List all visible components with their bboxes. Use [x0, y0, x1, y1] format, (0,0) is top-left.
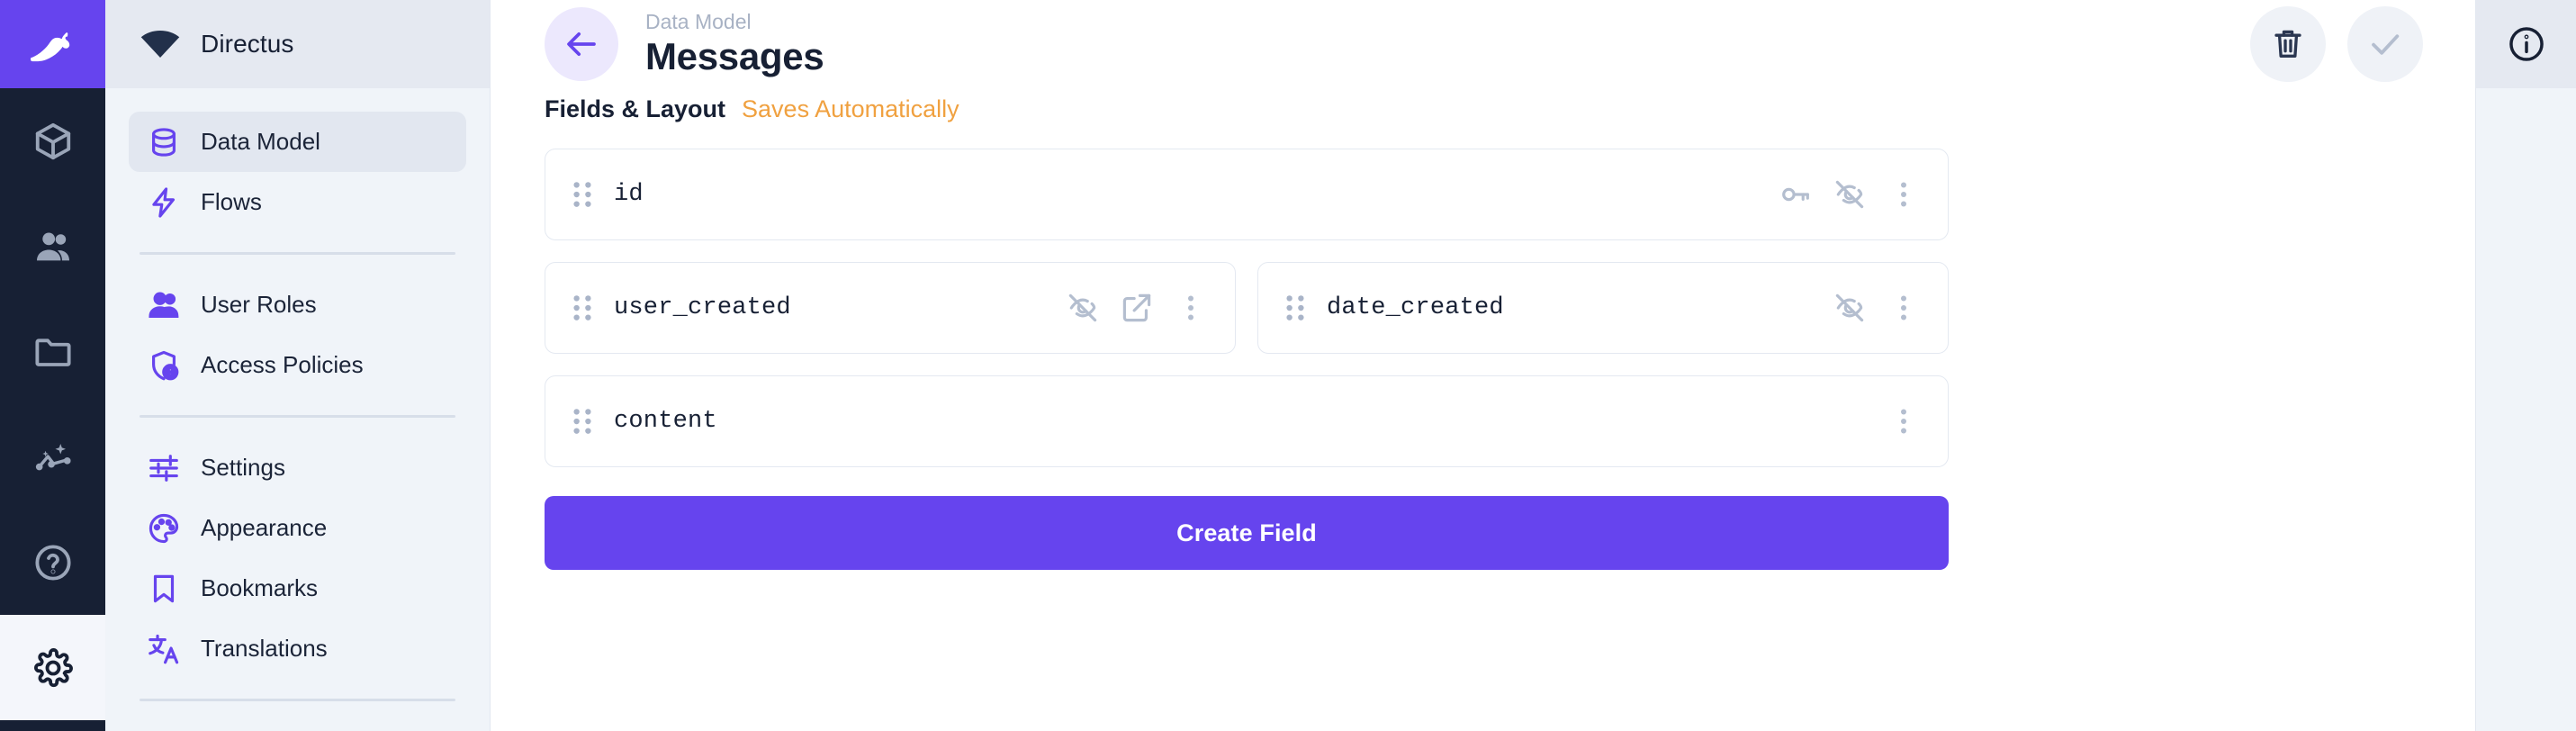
box-icon [32, 121, 74, 162]
field-actions [1887, 404, 1921, 438]
module-button-settings[interactable] [0, 615, 105, 720]
kebab-menu-icon[interactable] [1887, 291, 1921, 325]
sidebar-item-translations[interactable]: Translations [129, 618, 466, 679]
field-card-id[interactable]: id [545, 149, 1949, 240]
sidebar-item-settings[interactable]: Settings [129, 438, 466, 498]
sidebar-divider [140, 699, 455, 701]
module-list [0, 88, 105, 731]
info-sidebar [2475, 0, 2576, 731]
drag-handle-icon[interactable] [571, 293, 594, 323]
page-title: Messages [645, 35, 824, 78]
section-header: Fields & Layout Saves Automatically [545, 95, 2421, 123]
sidebar-item-label: Appearance [201, 514, 327, 542]
module-button-content[interactable] [0, 88, 105, 194]
directus-wedge-icon [140, 29, 181, 59]
sidebar-item-label: Translations [201, 635, 328, 663]
people-icon [147, 288, 181, 322]
help-circle-icon [32, 542, 74, 583]
sidebar-divider [140, 252, 455, 255]
field-name: user_created [614, 294, 791, 321]
palette-icon [147, 511, 181, 546]
field-card-user-created[interactable]: user_created [545, 262, 1236, 354]
breadcrumb[interactable]: Data Model [645, 9, 824, 35]
module-rail [0, 0, 105, 731]
kebab-menu-icon[interactable] [1174, 291, 1208, 325]
key-icon[interactable] [1779, 177, 1813, 212]
section-title: Fields & Layout [545, 95, 725, 123]
kebab-menu-icon[interactable] [1887, 177, 1921, 212]
trash-icon [2269, 25, 2307, 63]
sidebar-item-label: Settings [201, 454, 285, 482]
module-button-users[interactable] [0, 194, 105, 299]
bolt-icon [147, 185, 181, 220]
eye-off-icon[interactable] [1833, 177, 1867, 212]
info-circle-icon[interactable] [2507, 24, 2546, 64]
shield-user-icon [147, 348, 181, 383]
sidebar-item-user-roles[interactable]: User Roles [129, 275, 466, 335]
sidebar-divider [140, 415, 455, 418]
directus-rabbit-logo-icon [25, 23, 81, 65]
back-button[interactable] [545, 7, 618, 81]
info-sidebar-body [2476, 88, 2576, 731]
kebab-menu-icon[interactable] [1887, 404, 1921, 438]
fields-layout-section: Fields & Layout Saves Automatically [491, 88, 2475, 570]
module-button-files[interactable] [0, 299, 105, 404]
arrow-left-icon [563, 25, 600, 63]
info-sidebar-header [2476, 0, 2576, 88]
app-root: Directus Data Model Flows [0, 0, 2576, 731]
sidebar-nav: Data Model Flows U [105, 88, 490, 731]
field-row: content [545, 375, 1949, 467]
save-collection-button[interactable] [2347, 6, 2423, 82]
folder-icon [32, 331, 74, 373]
eye-off-icon[interactable] [1833, 291, 1867, 325]
directus-logo-button[interactable] [0, 0, 105, 88]
sidebar-item-appearance[interactable]: Appearance [129, 498, 466, 558]
page-title-block: Data Model Messages [645, 9, 824, 78]
project-name: Directus [201, 30, 294, 59]
insights-icon [32, 437, 74, 478]
sidebar-item-data-model[interactable]: Data Model [129, 112, 466, 172]
fields-list: id [545, 149, 1949, 467]
field-actions [1066, 291, 1208, 325]
module-button-help[interactable] [0, 510, 105, 615]
translate-icon [147, 632, 181, 666]
sidebar-item-flows[interactable]: Flows [129, 172, 466, 232]
bookmark-icon [147, 572, 181, 606]
eye-off-icon[interactable] [1066, 291, 1100, 325]
field-row: user_created [545, 262, 1949, 354]
sidebar-item-access-policies[interactable]: Access Policies [129, 335, 466, 395]
field-name: id [614, 181, 644, 208]
field-card-content[interactable]: content [545, 375, 1949, 467]
delete-collection-button[interactable] [2250, 6, 2326, 82]
autosave-note: Saves Automatically [742, 95, 959, 123]
project-header[interactable]: Directus [105, 0, 490, 88]
field-card-date-created[interactable]: date_created [1257, 262, 1949, 354]
field-row: id [545, 149, 1949, 240]
sidebar-item-label: Data Model [201, 128, 320, 156]
sidebar-item-bookmarks[interactable]: Bookmarks [129, 558, 466, 618]
check-icon [2366, 25, 2404, 63]
header-actions [2250, 6, 2423, 82]
drag-handle-icon[interactable] [1283, 293, 1307, 323]
drag-handle-icon[interactable] [571, 406, 594, 437]
page-header: Data Model Messages [491, 0, 2475, 88]
gear-icon [32, 647, 74, 689]
sidebar-item-label: Access Policies [201, 351, 364, 379]
field-name: content [614, 408, 717, 435]
module-button-insights[interactable] [0, 404, 105, 510]
settings-sidebar: Directus Data Model Flows [105, 0, 491, 731]
sidebar-item-label: Bookmarks [201, 574, 318, 602]
sidebar-item-label: User Roles [201, 291, 317, 319]
sliders-icon [147, 451, 181, 485]
drag-handle-icon[interactable] [571, 179, 594, 210]
main-content: Data Model Messages [491, 0, 2475, 731]
field-actions [1833, 291, 1921, 325]
sidebar-item-label: Flows [201, 188, 262, 216]
field-actions [1779, 177, 1921, 212]
external-link-icon[interactable] [1120, 291, 1154, 325]
create-field-button[interactable]: Create Field [545, 496, 1949, 570]
people-icon [32, 226, 74, 267]
field-name: date_created [1327, 294, 1504, 321]
database-icon [147, 125, 181, 159]
